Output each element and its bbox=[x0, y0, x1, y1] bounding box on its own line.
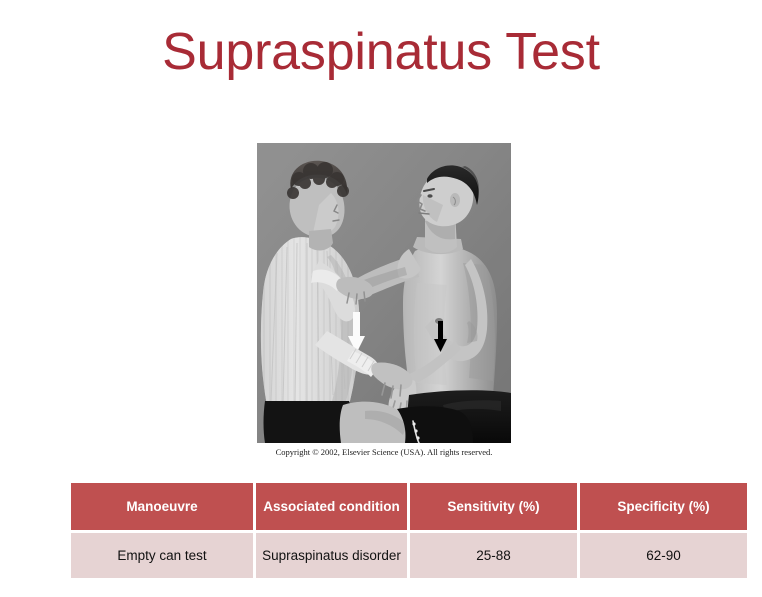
table-header-row: Manoeuvre Associated condition Sensitivi… bbox=[71, 483, 747, 533]
table-row: Empty can test Supraspinatus disorder 25… bbox=[71, 533, 747, 578]
cell-specificity: 62-90 bbox=[580, 533, 747, 578]
column-header-sensitivity: Sensitivity (%) bbox=[410, 483, 580, 533]
column-header-manoeuvre: Manoeuvre bbox=[71, 483, 256, 533]
column-header-condition: Associated condition bbox=[256, 483, 410, 533]
page-title: Supraspinatus Test bbox=[0, 22, 762, 82]
slide: Supraspinatus Test bbox=[0, 0, 762, 597]
cell-sensitivity: 25-88 bbox=[410, 533, 580, 578]
cell-condition: Supraspinatus disorder bbox=[256, 533, 410, 578]
clinical-photo bbox=[257, 143, 511, 443]
photo-copyright-caption: Copyright © 2002, Elsevier Science (USA)… bbox=[257, 447, 511, 458]
cell-manoeuvre: Empty can test bbox=[71, 533, 256, 578]
clinical-tests-table: Manoeuvre Associated condition Sensitivi… bbox=[71, 483, 747, 578]
column-header-specificity: Specificity (%) bbox=[580, 483, 747, 533]
figure-block: Copyright © 2002, Elsevier Science (USA)… bbox=[257, 143, 511, 458]
